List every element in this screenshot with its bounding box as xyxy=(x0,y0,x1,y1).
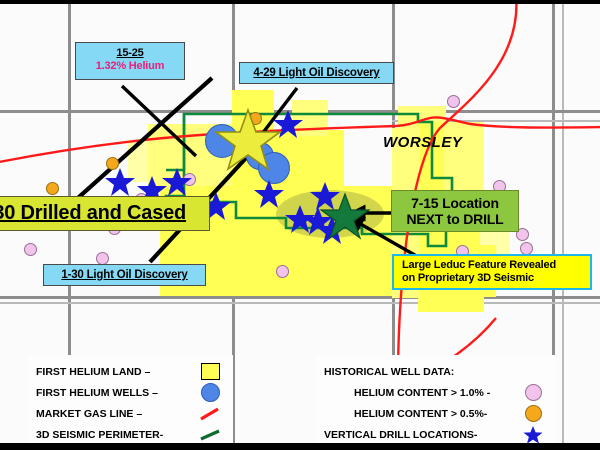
legend-row-helium-05pct: HELIUM CONTENT > 0.5%- xyxy=(324,403,548,424)
vertical-drill-star xyxy=(254,180,284,208)
legend-first-helium: FIRST HELIUM LAND – FIRST HELIUM WELLS –… xyxy=(28,355,233,450)
bottom-letterbox-bar xyxy=(0,443,600,450)
callout-1-30-drilled-label: 1-30 Drilled and Cased xyxy=(0,202,186,224)
legend-row-vertical-drill: VERTICAL DRILL LOCATIONS- xyxy=(324,424,548,445)
legend-label-helium-1pct: HELIUM CONTENT > 1.0% - xyxy=(354,387,490,399)
blue-circle-swatch-icon xyxy=(195,383,225,402)
callout-1-30-discovery-label: 1-30 Light Oil Discovery xyxy=(61,269,187,281)
legend-label-wells: FIRST HELIUM WELLS – xyxy=(36,387,158,399)
callout-7-15-location[interactable]: 7-15 Location NEXT to DRILL xyxy=(391,190,519,232)
discovery-star-15-25 xyxy=(216,110,280,169)
callout-4-29[interactable]: 4-29 Light Oil Discovery xyxy=(239,62,394,84)
vertical-drill-star xyxy=(105,168,135,196)
callout-15-25-title: 15-25 xyxy=(116,47,143,59)
legend-label-seismic: 3D SEISMIC PERIMETER- xyxy=(36,429,163,441)
legend-row-gas-line: MARKET GAS LINE – xyxy=(36,403,225,424)
yellow-square-swatch-icon xyxy=(195,363,225,380)
map-screenshot: WORSLEY xyxy=(0,0,600,450)
legend-row-wells: FIRST HELIUM WELLS – xyxy=(36,382,225,403)
legend-row-seismic: 3D SEISMIC PERIMETER- xyxy=(36,424,225,445)
red-line-swatch-icon xyxy=(195,406,225,422)
legend-title-row: HISTORICAL WELL DATA: xyxy=(324,361,548,382)
legend-label-vertical-drill: VERTICAL DRILL LOCATIONS- xyxy=(324,429,477,441)
blue-star-swatch-icon xyxy=(518,425,548,445)
legend-historical-well-data: HISTORICAL WELL DATA: HELIUM CONTENT > 1… xyxy=(316,355,556,450)
top-letterbox-bar xyxy=(0,0,600,4)
callout-15-25[interactable]: 15-25 1.32% Helium xyxy=(75,42,185,80)
legend-row-land: FIRST HELIUM LAND – xyxy=(36,361,225,382)
orange-circle-swatch-icon xyxy=(518,405,548,422)
vertical-drill-star xyxy=(162,168,192,196)
callout-1-30-drilled-and-cased[interactable]: 1-30 Drilled and Cased xyxy=(0,196,210,231)
callout-leduc-line2: on Proprietary 3D Seismic xyxy=(402,272,534,284)
legend-label-helium-05pct: HELIUM CONTENT > 0.5%- xyxy=(354,408,487,420)
callout-7-15-line1: 7-15 Location xyxy=(411,195,499,211)
callout-15-25-subtitle: 1.32% Helium xyxy=(96,60,165,72)
callout-1-30-light-oil-discovery[interactable]: 1-30 Light Oil Discovery xyxy=(43,264,206,286)
callout-leduc-line1: Large Leduc Feature Revealed xyxy=(402,259,556,271)
legend-row-helium-1pct: HELIUM CONTENT > 1.0% - xyxy=(324,382,548,403)
green-line-swatch-icon xyxy=(195,427,225,443)
pink-circle-swatch-icon xyxy=(518,384,548,401)
callout-7-15-line2: NEXT to DRILL xyxy=(407,211,504,227)
callout-4-29-label: 4-29 Light Oil Discovery xyxy=(253,67,379,79)
vertical-drill-star xyxy=(310,182,340,210)
legend-title-historical: HISTORICAL WELL DATA: xyxy=(324,366,454,378)
legend-label-gas-line: MARKET GAS LINE – xyxy=(36,408,142,420)
legend-label-land: FIRST HELIUM LAND – xyxy=(36,366,150,378)
callout-large-leduc-feature[interactable]: Large Leduc Feature Revealed on Propriet… xyxy=(392,254,592,290)
